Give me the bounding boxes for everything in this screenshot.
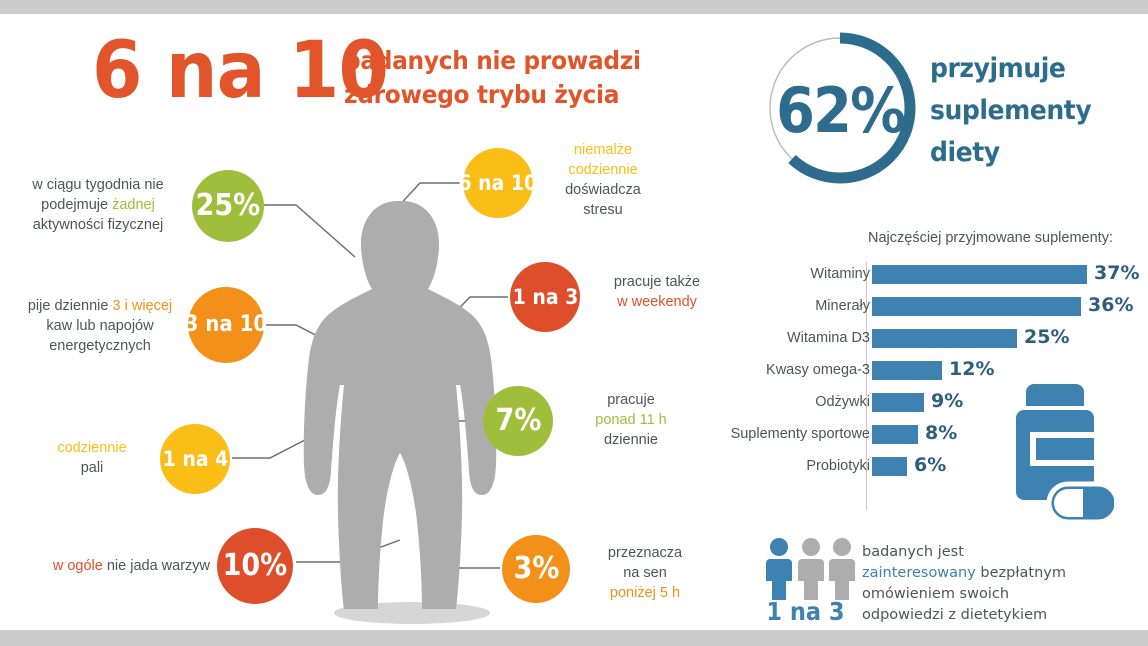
donut-caption-line-2: suplementy bbox=[930, 90, 1091, 132]
label-line: podejmuje żadnej bbox=[18, 195, 178, 215]
label-line: aktywności fizycznej bbox=[18, 215, 178, 235]
label-weekend-work: pracuje takżew weekendy bbox=[592, 272, 722, 312]
label-line: stresu bbox=[548, 200, 658, 220]
chart-value-label: 12% bbox=[949, 358, 994, 380]
label-line: poniżej 5 h bbox=[580, 583, 710, 603]
chart-category-label: Odżywki bbox=[815, 394, 870, 410]
chart-value-label: 36% bbox=[1088, 294, 1133, 316]
donut-value: 62% bbox=[776, 74, 904, 147]
label-line: w ciągu tygodnia nie bbox=[18, 175, 178, 195]
label-line: na sen bbox=[580, 563, 710, 583]
chart-bar bbox=[872, 265, 1087, 284]
chart-category-label: Kwasy omega-3 bbox=[766, 362, 870, 378]
chart-bar bbox=[872, 393, 924, 412]
chart-value-label: 8% bbox=[925, 422, 957, 444]
label-short-sleep: przeznaczana senponiżej 5 h bbox=[580, 543, 710, 603]
label-line: zainteresowany bezpłatnym bbox=[862, 563, 1132, 584]
bubble-physical-activity[interactable]: 25% bbox=[192, 170, 264, 242]
label-long-hours: pracujeponad 11 hdziennie bbox=[570, 390, 692, 450]
label-coffee-energy-drinks: pije dziennie 3 i więcejkaw lub napojówe… bbox=[20, 296, 180, 356]
chart-category-label: Suplementy sportowe bbox=[731, 426, 870, 442]
chart-category-label: Probiotyki bbox=[806, 458, 870, 474]
label-line: pracuje bbox=[570, 390, 692, 410]
chart-row: Witaminy37% bbox=[704, 262, 1124, 294]
label-line: pije dziennie 3 i więcej bbox=[20, 296, 180, 316]
chart-row: Minerały36% bbox=[704, 294, 1124, 326]
chart-row: Witamina D325% bbox=[704, 326, 1124, 358]
label-line: badanych jest bbox=[862, 542, 1132, 563]
bubble-value: 1 na 4 bbox=[162, 449, 228, 470]
label-line: odpowiedzi z dietetykiem bbox=[862, 605, 1132, 626]
donut-caption: przyjmuje suplementy diety bbox=[930, 48, 1103, 174]
label-line: kaw lub napojów bbox=[20, 316, 180, 336]
supplement-bottle-icon bbox=[1012, 380, 1114, 525]
donut-caption-line-3: diety bbox=[930, 132, 1091, 174]
bubble-value: 3 na 10 bbox=[185, 314, 268, 336]
label-line: omówieniem swoich bbox=[862, 584, 1132, 605]
label-line: pali bbox=[30, 458, 154, 478]
bubble-short-sleep[interactable]: 3% bbox=[502, 535, 570, 603]
chart-bar bbox=[872, 457, 907, 476]
label-line: dziennie bbox=[570, 430, 692, 450]
label-no-vegetables: w ogóle nie jada warzyw bbox=[20, 556, 210, 576]
donut-caption-line-1: przyjmuje bbox=[930, 48, 1091, 90]
label-line: ponad 11 h bbox=[570, 410, 692, 430]
label-line: codziennie bbox=[30, 438, 154, 458]
bubble-stress[interactable]: 6 na 10 bbox=[463, 148, 533, 218]
bubble-value: 1 na 3 bbox=[512, 287, 578, 308]
label-smoking: codzienniepali bbox=[30, 438, 154, 478]
man-silhouette-icon bbox=[300, 195, 510, 625]
chart-bar bbox=[872, 425, 918, 444]
label-stress: niemalżecodzienniedoświadczastresu bbox=[548, 140, 658, 220]
chart-bar bbox=[872, 361, 942, 380]
label-line: pracuje także bbox=[592, 272, 722, 292]
bubble-long-hours[interactable]: 7% bbox=[483, 386, 553, 456]
label-line: w weekendy bbox=[592, 292, 722, 312]
chart-category-label: Minerały bbox=[815, 298, 870, 314]
chart-bar bbox=[872, 297, 1081, 316]
dietitian-ratio: 1 na 3 bbox=[762, 597, 849, 626]
bubble-weekend-work[interactable]: 1 na 3 bbox=[510, 262, 580, 332]
label-line: przeznacza bbox=[580, 543, 710, 563]
three-people-icon bbox=[765, 538, 857, 600]
bubble-coffee-energy-drinks[interactable]: 3 na 10 bbox=[188, 287, 264, 363]
label-physical-activity: w ciągu tygodnia niepodejmuje żadnejakty… bbox=[18, 175, 178, 235]
donut-percentage: 62% bbox=[760, 28, 920, 188]
chart-value-label: 37% bbox=[1094, 262, 1139, 284]
bubble-value: 3% bbox=[513, 554, 559, 584]
bubble-value: 6 na 10 bbox=[459, 173, 538, 194]
label-line: energetycznych bbox=[20, 336, 180, 356]
label-line: doświadcza bbox=[548, 180, 658, 200]
label-line: codziennie bbox=[548, 160, 658, 180]
bubble-value: 10% bbox=[223, 551, 288, 581]
bubble-no-vegetables[interactable]: 10% bbox=[217, 528, 293, 604]
bubble-value: 25% bbox=[196, 191, 261, 221]
infographic-page: 6 na 10 badanych nie prowadzi zdrowego t… bbox=[0, 0, 1148, 646]
chart-category-label: Witamina D3 bbox=[787, 330, 870, 346]
label-line: w ogóle nie jada warzyw bbox=[20, 556, 210, 576]
chart-category-label: Witaminy bbox=[810, 266, 870, 282]
dietitian-text: badanych jestzainteresowany bezpłatnymom… bbox=[862, 542, 1132, 626]
chart-value-label: 6% bbox=[914, 454, 946, 476]
chart-value-label: 9% bbox=[931, 390, 963, 412]
chart-value-label: 25% bbox=[1024, 326, 1069, 348]
chart-title: Najczęściej przyjmowane suplementy: bbox=[868, 230, 1113, 246]
bubble-smoking[interactable]: 1 na 4 bbox=[160, 424, 230, 494]
label-line: niemalże bbox=[548, 140, 658, 160]
bubble-value: 7% bbox=[495, 406, 541, 436]
chart-bar bbox=[872, 329, 1017, 348]
